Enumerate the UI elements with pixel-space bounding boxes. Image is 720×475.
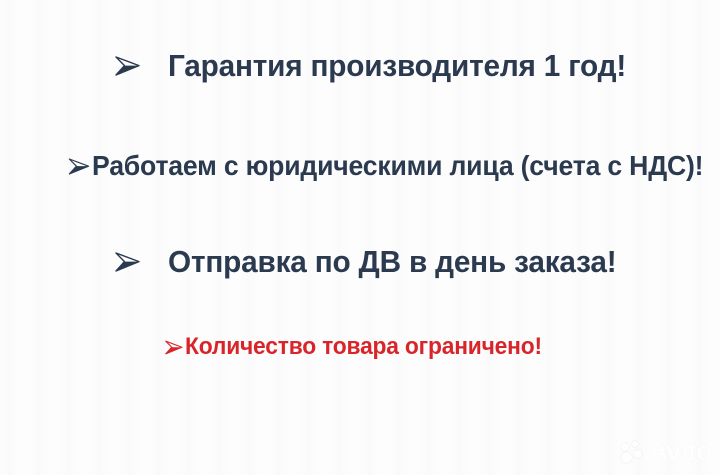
image-canvas: Гарантия производителя 1 год! Работаем с… — [0, 0, 720, 475]
bullet-line-1: Гарантия производителя 1 год! — [112, 48, 645, 84]
arrowhead-bullet-icon — [112, 51, 142, 81]
avito-logo-icon — [621, 441, 647, 463]
bullet-text-2: Работаем с юридическими лица (счета с НД… — [92, 150, 703, 182]
arrowhead-bullet-icon — [66, 154, 91, 179]
bullet-line-3: Отправка по ДВ в день заказа! — [112, 244, 635, 280]
bullet-text-3: Отправка по ДВ в день заказа! — [168, 244, 616, 280]
bullet-text-1: Гарантия производителя 1 год! — [168, 48, 626, 84]
avito-watermark: Avito — [621, 438, 713, 465]
bullet-line-4: Количество товара ограничено! — [163, 333, 561, 361]
bullet-line-2: Работаем с юридическими лица (счета с НД… — [66, 150, 720, 182]
arrowhead-bullet-icon — [112, 247, 142, 277]
bullet-text-4: Количество товара ограничено! — [185, 333, 542, 361]
avito-wordmark: Avito — [649, 438, 713, 465]
arrowhead-bullet-icon — [163, 337, 184, 358]
